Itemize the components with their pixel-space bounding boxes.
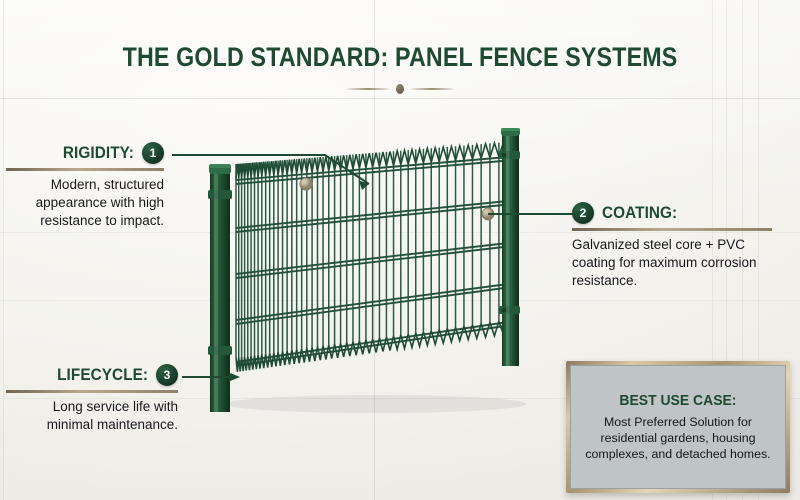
best-use-case-box[interactable]: BEST USE CASE: Most Preferred Solution f… — [566, 361, 790, 493]
callout-lifecycle[interactable]: LIFECYCLE: 3 Long service life with mini… — [6, 364, 178, 434]
callout-body: Long service life with minimal maintenan… — [6, 398, 178, 434]
callout-marker-2 — [482, 208, 494, 220]
fence-post-right — [499, 128, 520, 366]
best-use-case-title: BEST USE CASE: — [619, 392, 736, 409]
callout-body: Modern, structured appearance with high … — [6, 176, 164, 229]
fence-post-left — [208, 164, 232, 412]
callout-marker-1 — [300, 178, 312, 190]
divider-diamond-icon — [396, 84, 404, 94]
best-use-case-inner: BEST USE CASE: Most Preferred Solution f… — [570, 365, 786, 489]
divider-line-right — [411, 88, 453, 90]
callout-rule — [6, 168, 164, 171]
callout-header: 2 COATING: — [572, 202, 772, 224]
divider-line-left — [347, 88, 389, 90]
callout-badge-3: 3 — [156, 364, 178, 386]
callout-title: LIFECYCLE: — [57, 365, 148, 385]
ornamental-divider — [0, 83, 800, 95]
callout-badge-2: 2 — [572, 202, 594, 224]
callout-body: Galvanized steel core + PVC coating for … — [572, 236, 772, 289]
best-use-case-body: Most Preferred Solution for residential … — [581, 414, 775, 462]
fence-illustration — [196, 124, 564, 426]
callout-header: LIFECYCLE: 3 — [6, 364, 178, 386]
callout-badge-1: 1 — [142, 142, 164, 164]
infographic-canvas: THE GOLD STANDARD: PANEL FENCE SYSTEMS — [0, 0, 800, 500]
page-title: THE GOLD STANDARD: PANEL FENCE SYSTEMS — [56, 42, 744, 73]
mesh-panel — [236, 142, 508, 372]
callout-rule — [6, 390, 178, 393]
bg-grid-line-v — [3, 0, 4, 500]
callout-rule — [572, 228, 772, 231]
bg-grid-line-h — [0, 98, 800, 99]
callout-rigidity[interactable]: RIGIDITY: 1 Modern, structured appearanc… — [6, 142, 164, 229]
callout-coating[interactable]: 2 COATING: Galvanized steel core + PVC c… — [572, 202, 772, 289]
callout-title: RIGIDITY: — [63, 143, 134, 163]
callout-title: COATING: — [602, 203, 677, 223]
callout-header: RIGIDITY: 1 — [6, 142, 164, 164]
